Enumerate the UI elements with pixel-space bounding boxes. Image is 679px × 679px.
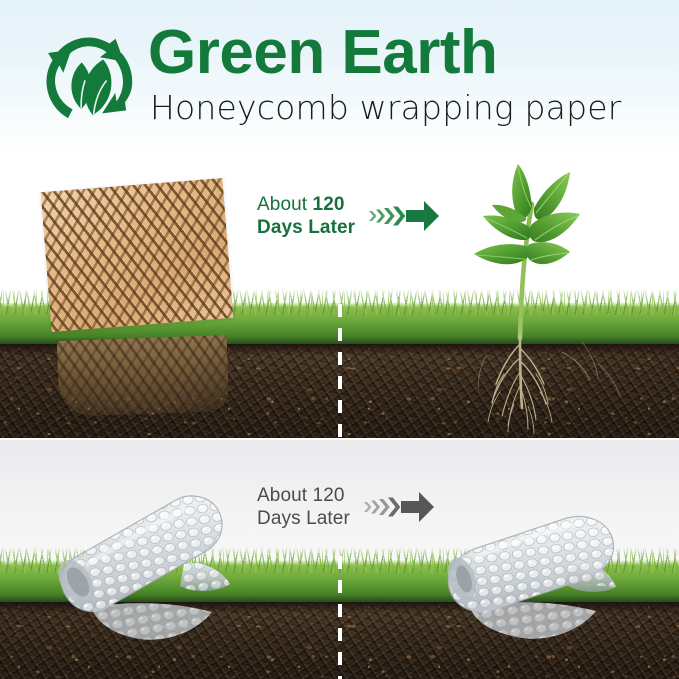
callout-days-number: 120 — [313, 194, 345, 215]
callout-text: About 120 Days Later — [257, 193, 355, 239]
callout-line-1: About 120 — [257, 484, 350, 507]
honeycomb-paper-sheet — [41, 178, 233, 332]
seedling-plant — [452, 160, 620, 340]
callout-line-2: Days Later — [257, 216, 355, 239]
brand-subtitle: Honeycomb wrapping paper — [150, 89, 622, 127]
plastic-bubble-wrap-roll-after — [424, 495, 639, 650]
chevrons-right-arrow-icon — [367, 198, 441, 234]
callout-text: About 120 Days Later — [257, 484, 350, 530]
callout-prefix: About — [257, 194, 313, 215]
chevrons-right-arrow-icon — [362, 489, 436, 525]
callout-biodegradable: About 120 Days Later — [257, 193, 441, 239]
recycle-leaves-icon — [36, 28, 142, 134]
callout-nonbiodegradable: About 120 Days Later — [257, 484, 436, 530]
biodegradable-panel: About 120 Days Later — [0, 152, 679, 438]
callout-line-1: About 120 — [257, 193, 355, 216]
brand-title: Green Earth — [148, 22, 497, 84]
header-banner: Green Earth Honeycomb wrapping paper — [0, 0, 679, 152]
panel-divider-dashed — [338, 556, 342, 679]
nonbiodegradable-panel: About 120 Days Later — [0, 440, 679, 679]
honeycomb-paper-buried-remnant — [57, 335, 230, 417]
green-earth-infographic: Green Earth Honeycomb wrapping paper — [0, 0, 679, 679]
plastic-bubble-wrap-roll-before — [34, 488, 254, 648]
callout-days-number: 120 — [313, 485, 345, 506]
callout-prefix: About — [257, 485, 313, 506]
panel-divider-dashed — [338, 304, 342, 438]
plant-roots — [478, 334, 628, 438]
callout-line-2: Days Later — [257, 507, 350, 530]
